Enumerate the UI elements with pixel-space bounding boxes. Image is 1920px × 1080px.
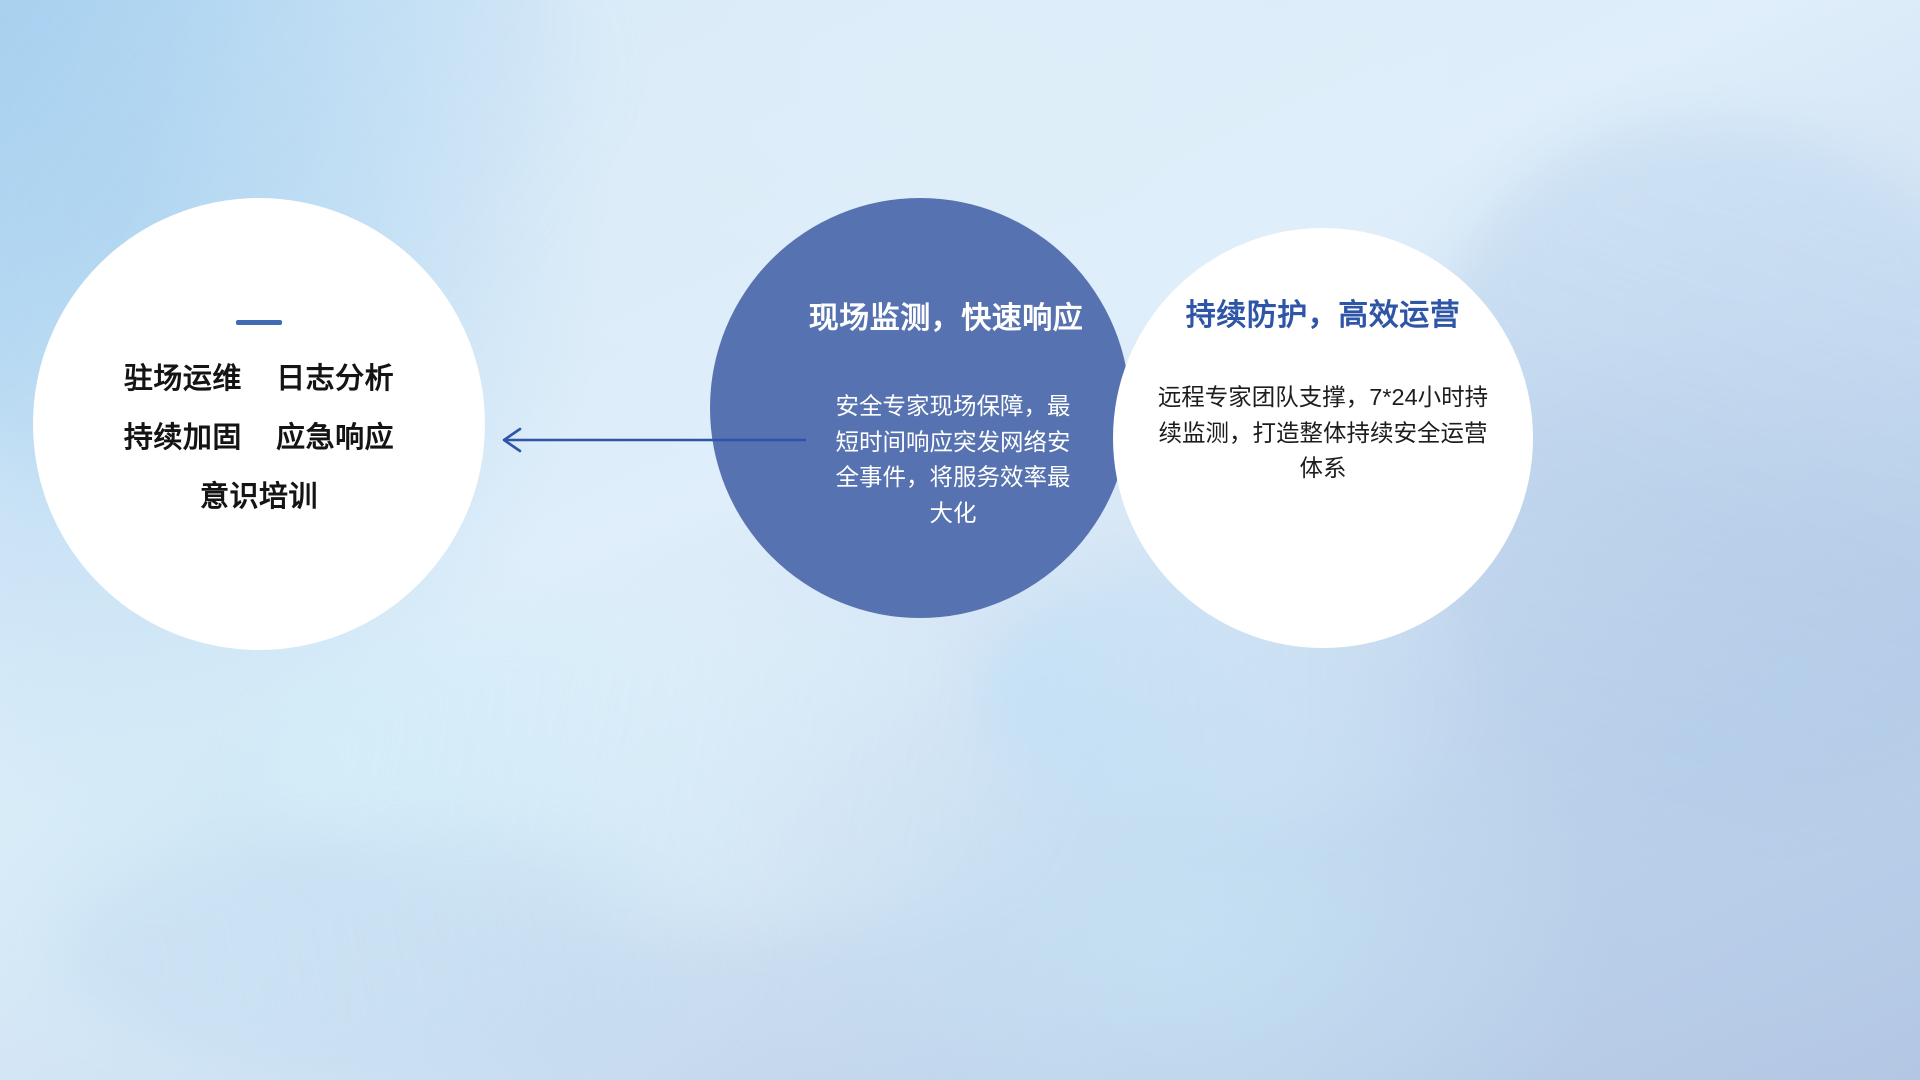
node-remote-body: 远程专家团队支撑，7*24小时持续监测，打造整体持续安全运营体系 [1149,380,1497,487]
node-onsite-monitoring[interactable]: 现场监测，快速响应 安全专家现场保障，最短时间响应突发网络安全事件，将服务效率最… [710,198,1130,618]
node-onsite-body: 安全专家现场保障，最短时间响应突发网络安全事件，将服务效率最大化 [758,389,1082,532]
node-process-keywords[interactable]: 驻场运维 日志分析 持续加固 应急响应 意识培训 [33,198,485,650]
diagram-canvas: 驻场运维 日志分析 持续加固 应急响应 意识培训 现场监测，快速响应 安全专家现… [0,0,1920,1080]
background-light-streak-bottom [60,830,760,1080]
node-remote-operations[interactable]: 持续防护，高效运营 远程专家团队支撑，7*24小时持续监测，打造整体持续安全运营… [1113,228,1533,648]
node-onsite-title: 现场监测，快速响应 [757,293,1084,337]
keyword-line-2: 持续加固 应急响应 [33,424,485,453]
keyword-line-1: 驻场运维 日志分析 [33,365,485,394]
keyword-line-3: 意识培训 [33,483,485,512]
title-divider-dash [236,320,282,325]
keyword-list: 驻场运维 日志分析 持续加固 应急响应 意识培训 [33,365,485,512]
connector-arrow-left [488,420,808,460]
node-remote-title: 持续防护，高效运营 [1186,290,1461,334]
background-light-streak-bottom-left [260,600,1160,930]
